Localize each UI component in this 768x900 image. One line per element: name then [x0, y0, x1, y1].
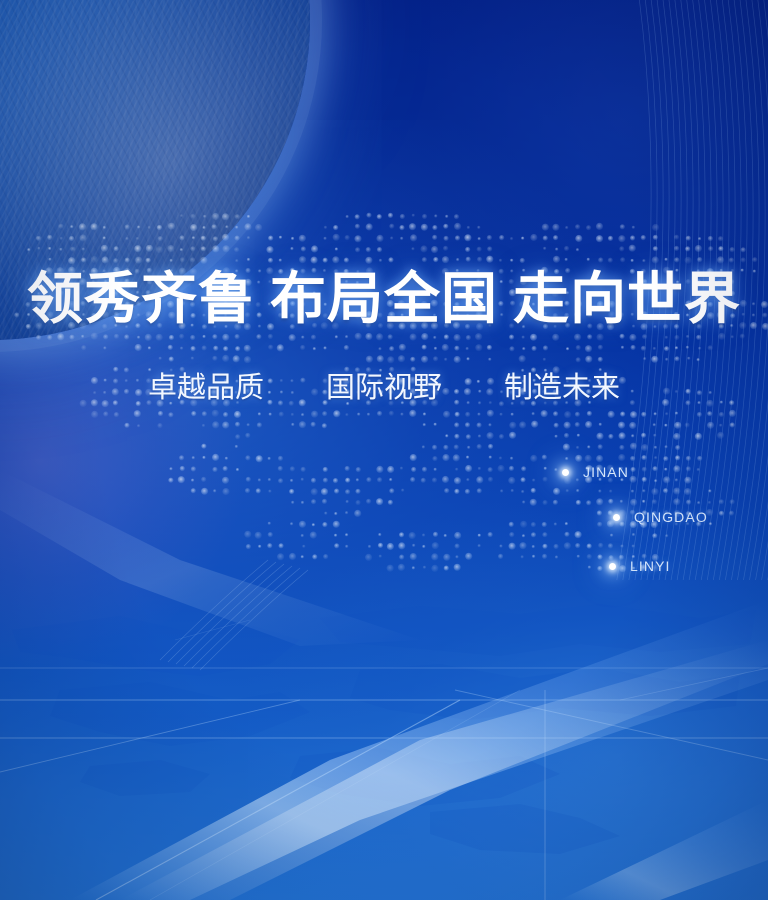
city-dot-icon — [613, 514, 620, 521]
city-marker-jinan[interactable]: JINAN — [562, 464, 629, 480]
ambient-glow-center — [0, 120, 640, 740]
banner-subtitle: 卓越品质国际视野制造未来 — [0, 368, 768, 408]
city-label: QINGDAO — [634, 509, 708, 525]
city-label: JINAN — [583, 464, 629, 480]
ambient-glow-top-right — [348, 0, 768, 300]
perspective-grid-lines — [0, 0, 768, 900]
banner-headline: 领秀齐鲁 布局全国 走向世界 — [0, 268, 768, 332]
banner-hero: 领秀齐鲁 布局全国 走向世界 卓越品质国际视野制造未来 JINAN QINGDA… — [0, 0, 768, 900]
ambient-glow-bottom-right — [248, 500, 768, 900]
city-dot-icon — [562, 469, 569, 476]
faint-continent-map-decoration — [0, 560, 768, 900]
city-label: LINYI — [630, 558, 671, 574]
vignette-overlay — [0, 0, 768, 900]
subtitle-part-2: 国际视野 — [326, 372, 442, 404]
city-marker-linyi[interactable]: LINYI — [609, 558, 671, 574]
city-marker-qingdao[interactable]: QINGDAO — [613, 509, 708, 525]
city-dot-icon — [609, 563, 616, 570]
light-beam-decoration — [0, 0, 768, 900]
subtitle-part-1: 卓越品质 — [148, 372, 264, 404]
subtitle-part-3: 制造未来 — [504, 372, 620, 404]
